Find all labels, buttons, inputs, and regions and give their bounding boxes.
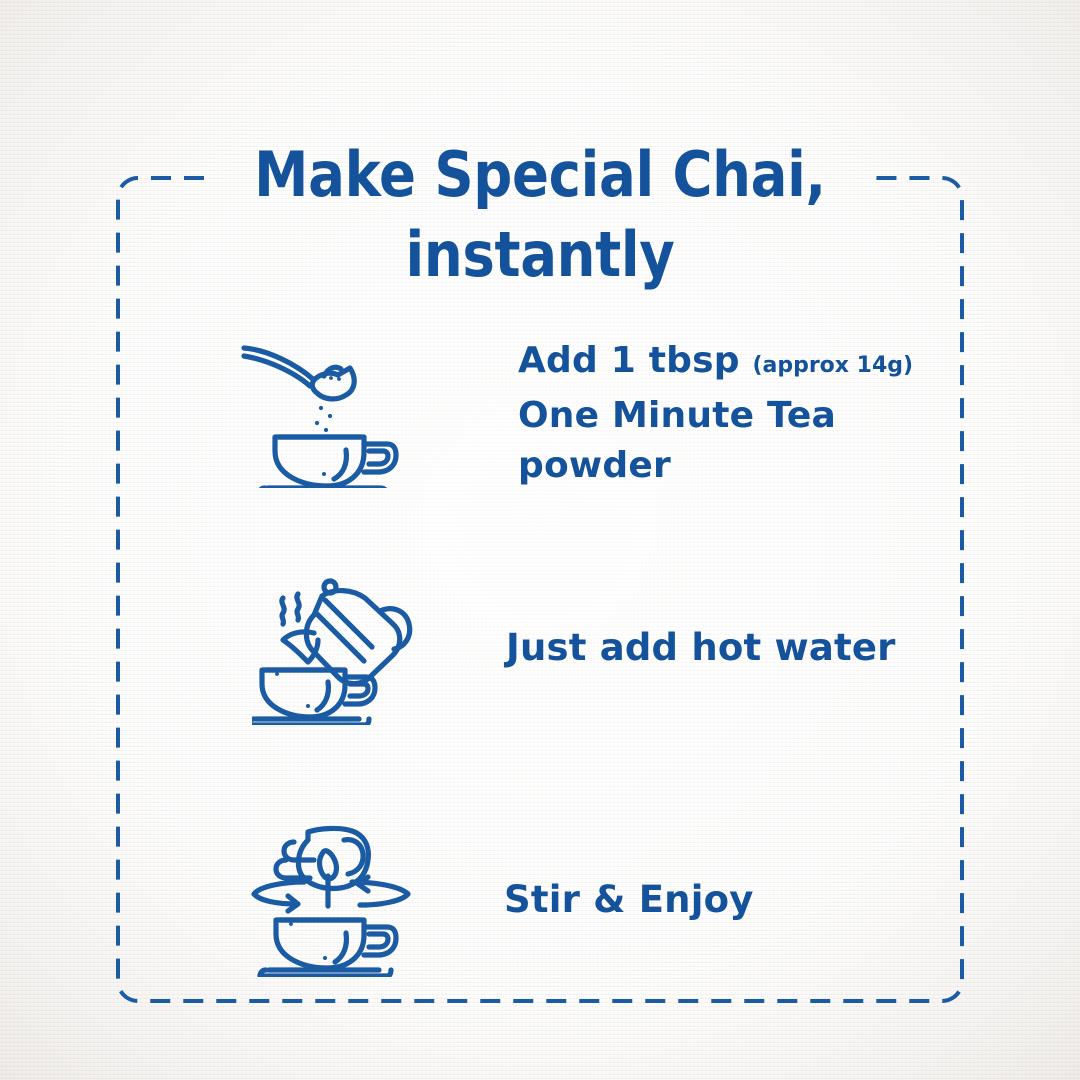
hand-stirring-spoon-in-cup-icon	[150, 822, 428, 977]
page-title: Make Special Chai, instantly	[65, 135, 1015, 295]
step-2-text: Just add hot water	[432, 623, 950, 673]
step-1-main: Add 1 tbsp	[518, 340, 752, 381]
instructions-poster: Make Special Chai, instantly	[0, 0, 1080, 1080]
step-3-line-1: Stir & Enjoy	[504, 875, 950, 925]
step-item-3: Stir & Enjoy	[150, 822, 950, 977]
step-1-line-2: One Minute Tea powder	[518, 391, 950, 491]
step-1-text: Add 1 tbsp (approx 14g) One Minute Tea p…	[418, 336, 950, 491]
teapot-pouring-into-cup-icon	[150, 570, 432, 725]
step-item-1: Add 1 tbsp (approx 14g) One Minute Tea p…	[150, 338, 950, 488]
step-2-line-1: Just add hot water	[506, 623, 950, 673]
step-item-2: Just add hot water	[150, 570, 950, 725]
spoon-pouring-powder-into-cup-icon	[150, 338, 418, 488]
step-1-line-1: Add 1 tbsp (approx 14g)	[518, 336, 950, 391]
step-3-text: Stir & Enjoy	[428, 875, 950, 925]
step-1-note: (approx 14g)	[752, 353, 913, 378]
